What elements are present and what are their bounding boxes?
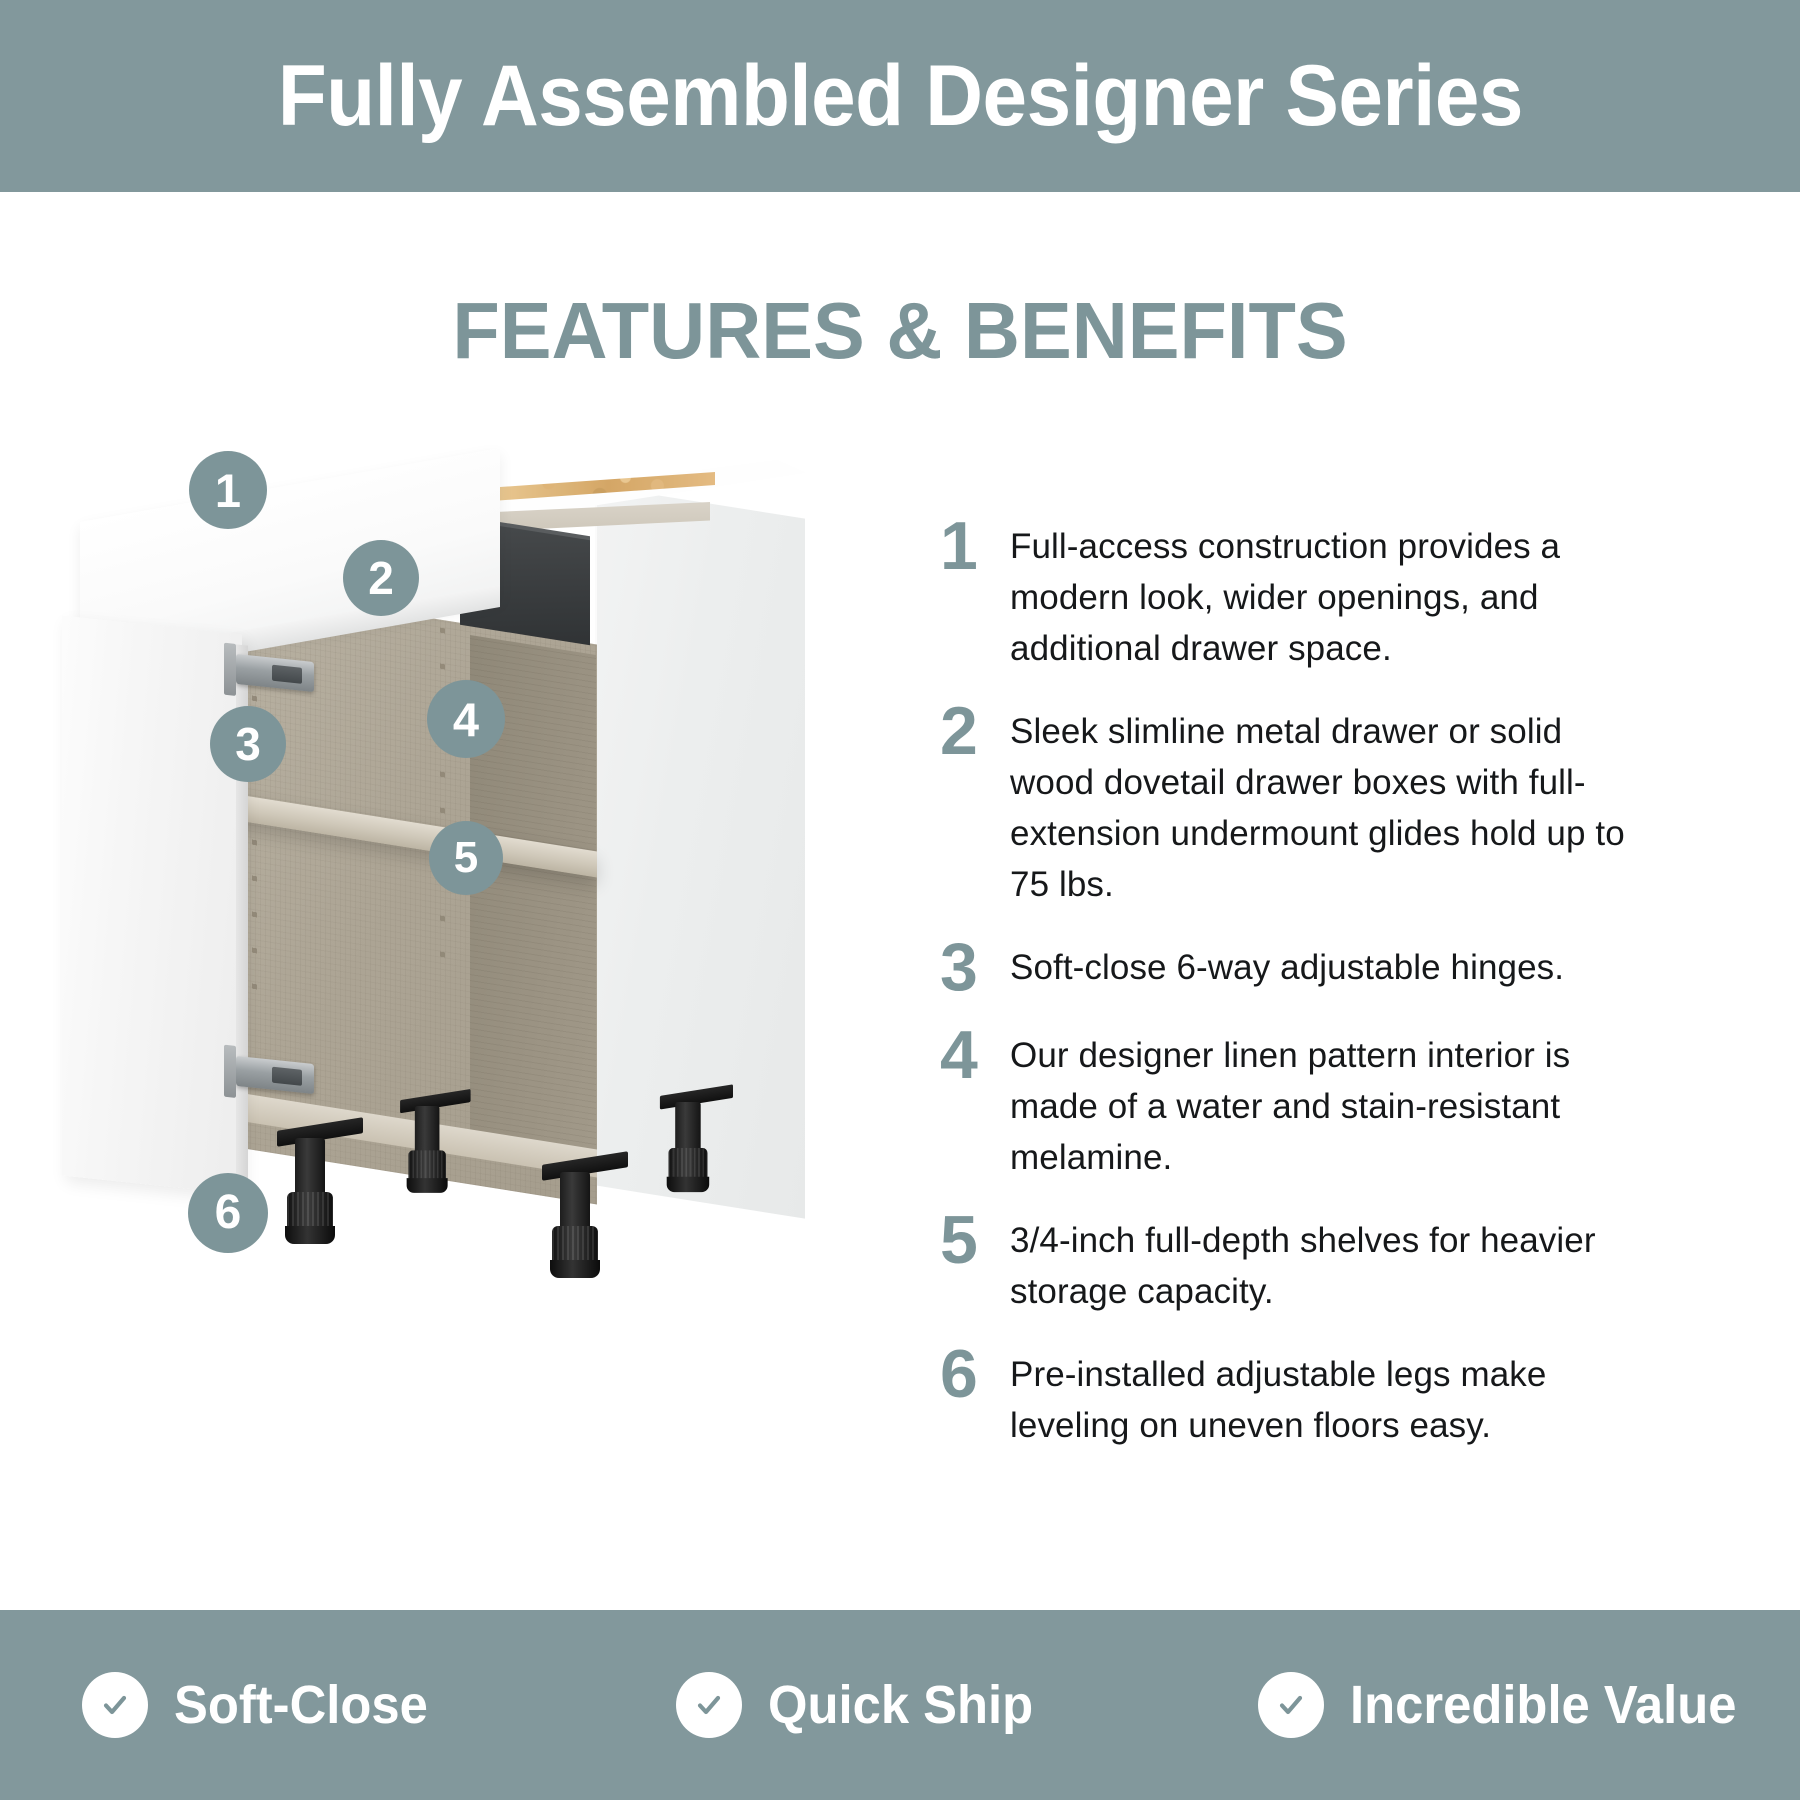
feature-description: Sleek slimline metal drawer or solid woo… <box>1010 700 1640 910</box>
footer-feature-label: Soft-Close <box>174 1674 428 1736</box>
footer-feature-label: Quick Ship <box>768 1674 1033 1736</box>
feature-number: 5 <box>940 1209 1010 1271</box>
feature-item: 2Sleek slimline metal drawer or solid wo… <box>940 700 1640 910</box>
footer-feature-3: Incredible Value <box>1218 1672 1800 1738</box>
cabinet-door-panel <box>62 616 242 1195</box>
feature-number: 2 <box>940 700 1010 762</box>
feature-description: Full-access construction provides a mode… <box>1010 515 1640 674</box>
callout-badge-3: 3 <box>210 706 286 782</box>
footer-feature-2: Quick Ship <box>624 1672 1218 1738</box>
callout-badge-1: 1 <box>189 451 267 529</box>
product-illustration <box>40 430 800 1490</box>
callout-badge-2: 2 <box>343 540 419 616</box>
feature-description: 3/4-inch full-depth shelves for heavier … <box>1010 1209 1640 1317</box>
page-title: Fully Assembled Designer Series <box>277 47 1522 146</box>
footer-band: Soft-CloseQuick ShipIncredible Value <box>0 1610 1800 1800</box>
check-circle-icon <box>82 1672 148 1738</box>
check-circle-icon <box>1258 1672 1324 1738</box>
section-heading: FEATURES & BENEFITS <box>27 285 1773 377</box>
feature-item: 4Our designer linen pattern interior is … <box>940 1024 1640 1183</box>
header-band: Fully Assembled Designer Series <box>0 0 1800 192</box>
feature-number: 4 <box>940 1024 1010 1086</box>
feature-description: Our designer linen pattern interior is m… <box>1010 1024 1640 1183</box>
callout-badge-5: 5 <box>429 821 503 895</box>
feature-number: 1 <box>940 515 1010 577</box>
callout-badge-6: 6 <box>188 1173 268 1253</box>
check-circle-icon <box>676 1672 742 1738</box>
feature-item: 6Pre-installed adjustable legs make leve… <box>940 1343 1640 1451</box>
features-list: 1Full-access construction provides a mod… <box>940 515 1640 1477</box>
feature-description: Soft-close 6-way adjustable hinges. <box>1010 936 1640 993</box>
feature-description: Pre-installed adjustable legs make level… <box>1010 1343 1640 1451</box>
feature-number: 6 <box>940 1343 1010 1405</box>
feature-item: 1Full-access construction provides a mod… <box>940 515 1640 674</box>
callout-badge-4: 4 <box>427 680 505 758</box>
feature-item: 3Soft-close 6-way adjustable hinges. <box>940 936 1640 998</box>
footer-feature-1: Soft-Close <box>0 1672 624 1738</box>
shelf-pin-holes-rear <box>440 628 445 959</box>
feature-number: 3 <box>940 936 1010 998</box>
feature-item: 53/4-inch full-depth shelves for heavier… <box>940 1209 1640 1317</box>
footer-feature-label: Incredible Value <box>1350 1674 1737 1736</box>
